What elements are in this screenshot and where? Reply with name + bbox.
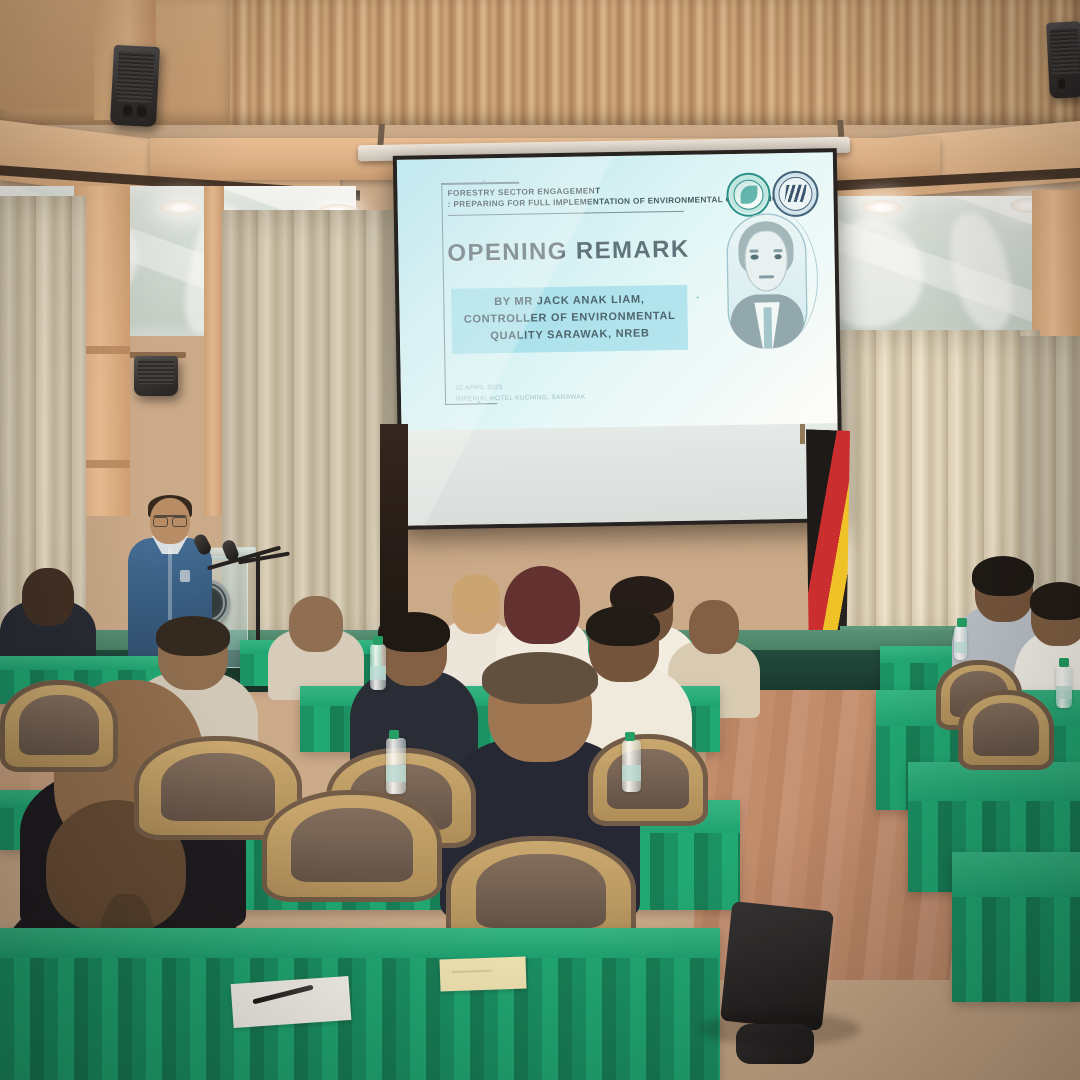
chair-pad <box>291 808 413 882</box>
eyeglasses-icon <box>153 515 187 525</box>
slide-footnote-line-2: IMPERIAL HOTEL KUCHING, SARAWAK <box>455 391 651 405</box>
wall-speaker-left-icon <box>110 45 160 127</box>
floor-shadow <box>700 1012 860 1046</box>
curtain-left-of-screen <box>222 210 398 650</box>
wall-pillar-left-inner <box>204 186 224 516</box>
mineral-water-bottle <box>622 740 641 792</box>
portrait-tie <box>763 307 772 348</box>
mineral-water-bottle <box>954 626 967 660</box>
banquet-chair <box>958 690 1054 770</box>
banquet-chair <box>588 734 708 826</box>
wall-speaker-right-icon <box>1046 21 1080 99</box>
flag-pole <box>800 424 805 444</box>
table-top <box>952 852 1080 903</box>
speaker-cone <box>1058 75 1066 92</box>
slide-title: OPENING REMARK <box>433 236 704 269</box>
attendee-hair <box>378 612 450 652</box>
mineral-water-bottle <box>1056 666 1072 708</box>
attendee-hair-bun <box>452 574 500 614</box>
speaker-cone <box>136 102 147 120</box>
speaker-badge <box>180 570 190 582</box>
portrait-eye <box>751 255 758 260</box>
ceiling-downlight <box>862 200 902 215</box>
bottle-label <box>370 666 386 680</box>
slide-header: FORESTRY SECTOR ENGAGEMENT : PREPARING F… <box>447 183 770 209</box>
bottle-label <box>622 765 641 781</box>
speaker-grill <box>138 359 173 384</box>
speaker-cone <box>122 101 133 119</box>
attendee-hair <box>482 652 598 704</box>
wall-speaker-left-lower-icon <box>134 356 178 396</box>
banquet-chair <box>262 790 442 902</box>
slide-footnote: 22 APRIL 2025 IMPERIAL HOTEL KUCHING, SA… <box>455 380 652 406</box>
attendee-hair <box>586 606 660 646</box>
screen-blank-area <box>402 423 840 526</box>
mineral-water-bottle <box>386 738 406 794</box>
projection-screen: FORESTRY SECTOR ENGAGEMENT : PREPARING F… <box>393 148 843 530</box>
ceiling-downlight <box>160 200 200 215</box>
logo-wave-bars <box>784 185 806 202</box>
speaker-grill <box>1050 27 1080 75</box>
bottle-label <box>386 765 406 782</box>
attendee-head <box>689 600 739 654</box>
presentation-slide: FORESTRY SECTOR ENGAGEMENT : PREPARING F… <box>397 152 838 430</box>
sarawak-flag-drape <box>806 429 850 643</box>
speaker-portrait-illustration <box>726 212 808 348</box>
portrait-mouth <box>759 275 773 279</box>
conference-hall-photo: FORESTRY SECTOR ENGAGEMENT : PREPARING F… <box>0 0 1080 1080</box>
attendee-hair <box>156 616 230 656</box>
bottle-label <box>954 642 967 652</box>
slide-bracket-vertical <box>441 183 446 405</box>
slide-header-rule <box>448 210 683 215</box>
bottle-cap <box>957 618 967 627</box>
bottle-cap <box>373 636 383 645</box>
screen-surface: FORESTRY SECTOR ENGAGEMENT : PREPARING F… <box>397 152 839 526</box>
attendee-head <box>22 568 74 626</box>
bottle-label <box>1056 686 1072 699</box>
table-row-right-3 <box>952 852 1080 1002</box>
chair-pad <box>973 703 1038 756</box>
speaker-grill <box>116 51 155 102</box>
slide-bracket-top <box>441 182 519 185</box>
card-print-line <box>452 970 492 973</box>
attendee-head <box>289 596 343 652</box>
glass-reflection <box>940 207 1021 336</box>
portrait-face <box>744 230 788 291</box>
table-drape <box>952 897 1080 1002</box>
yellow-name-card <box>439 957 526 992</box>
chair-pad <box>19 695 99 756</box>
mineral-water-bottle <box>370 644 386 690</box>
table-drape <box>0 958 720 1080</box>
chair-pad <box>476 854 605 928</box>
attendee-hair <box>1030 582 1080 620</box>
speaker-shirt-placket <box>168 548 172 620</box>
table-top <box>0 928 720 961</box>
table-row-foreground <box>0 928 720 1080</box>
chair-pad <box>607 749 689 810</box>
bottle-cap <box>389 730 399 739</box>
bottle-cap <box>1059 658 1069 667</box>
bottle-cap <box>625 732 635 741</box>
note-paper <box>231 976 352 1028</box>
banquet-chair <box>0 680 118 772</box>
slide-subtitle-band: BY MR JACK ANAK LIAM, CONTROLLER OF ENVI… <box>451 285 688 354</box>
chair-pad <box>161 753 275 822</box>
slide-spark-icon <box>696 295 700 299</box>
